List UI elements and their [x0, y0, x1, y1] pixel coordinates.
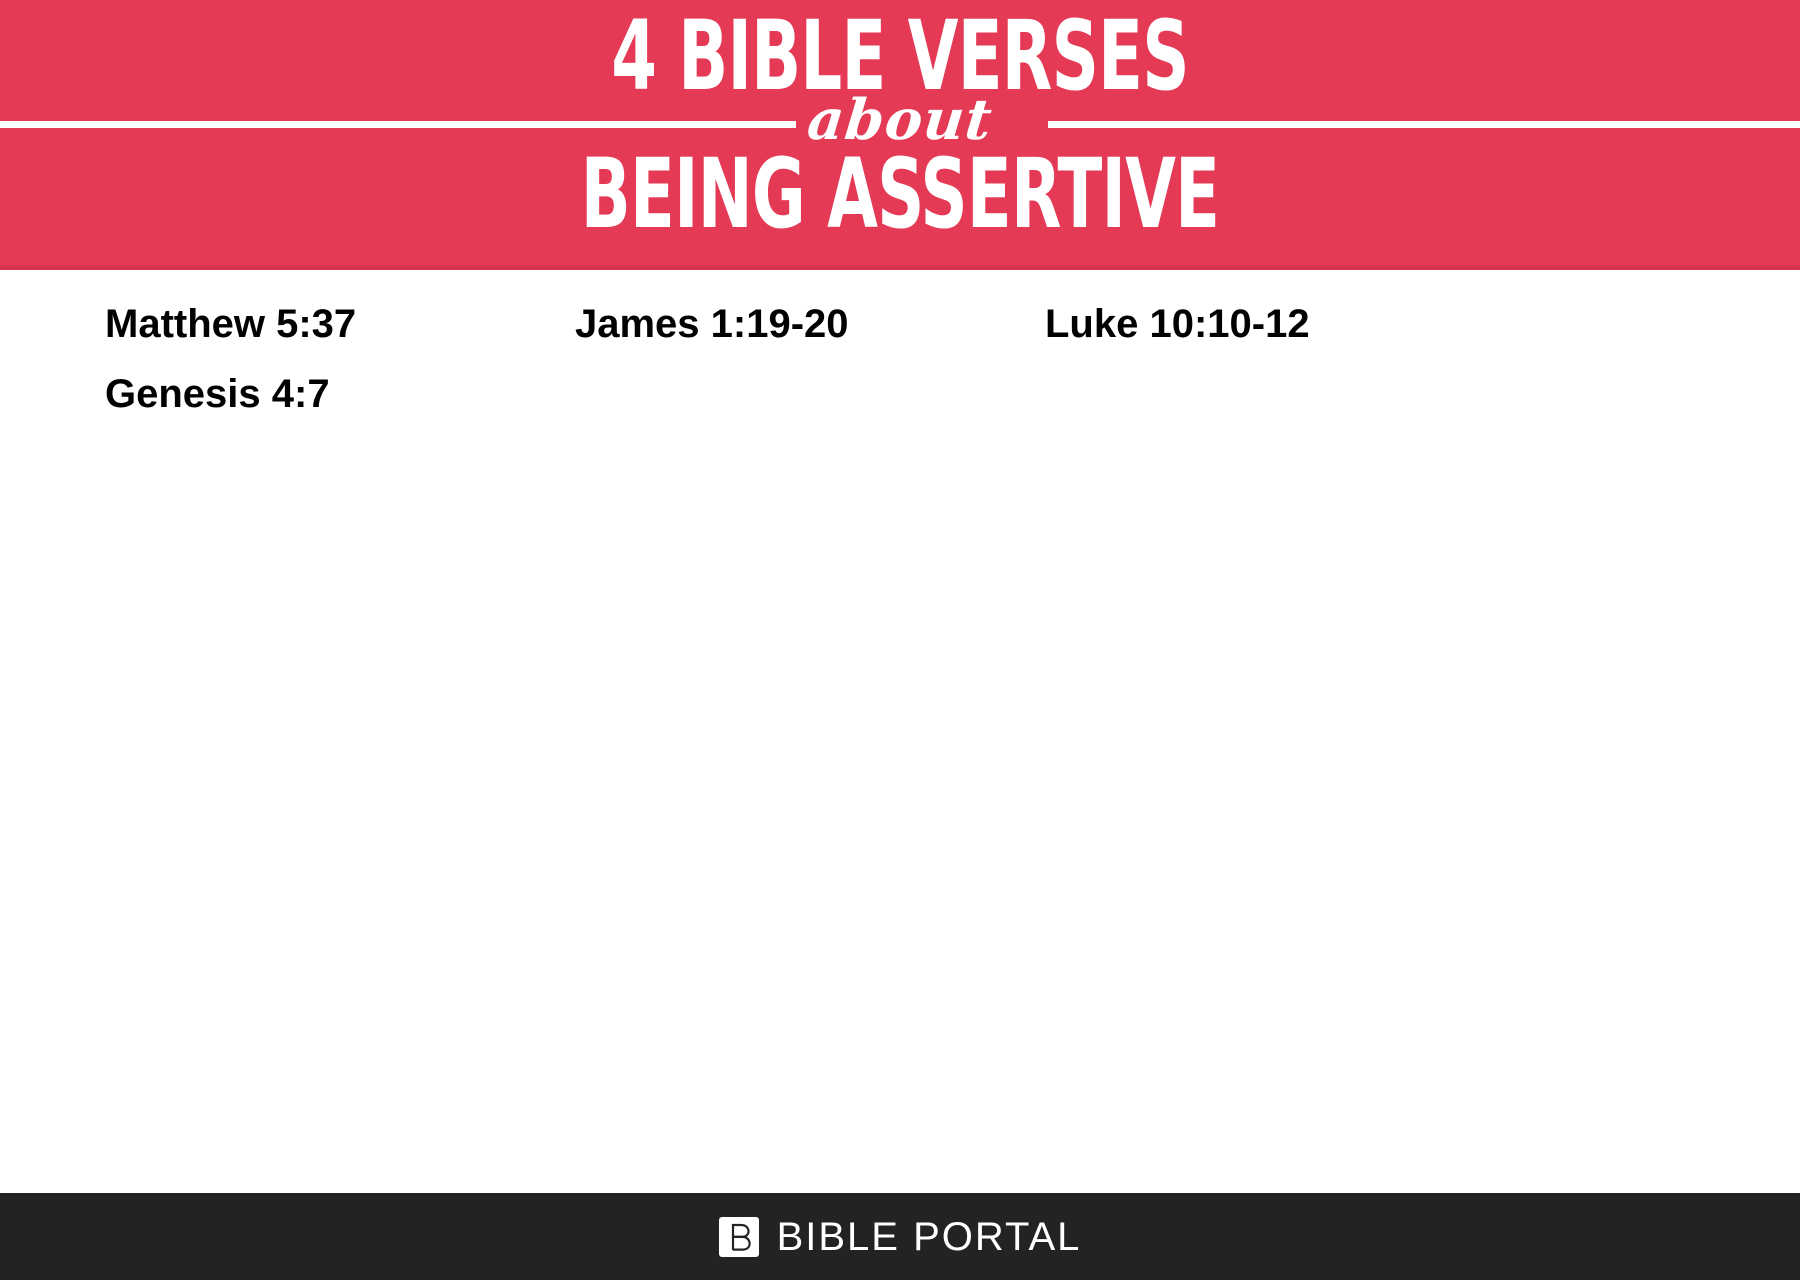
- bible-book-badge-icon: [719, 1217, 759, 1257]
- brand-logo[interactable]: Bible Portal: [0, 1193, 1800, 1280]
- footer-bar: Bible Portal: [0, 1193, 1800, 1280]
- verse-list-graphic: 4 Bible Verses about Being Assertive Mat…: [0, 0, 1800, 1280]
- verse-list-body: Matthew 5:37 James 1:19-20 Luke 10:10-12…: [0, 270, 1800, 1193]
- verse-reference-item[interactable]: James 1:19-20: [575, 298, 1045, 350]
- verse-reference-item[interactable]: Matthew 5:37: [105, 298, 575, 350]
- brand-wordmark: Bible Portal: [777, 1217, 1082, 1257]
- header-banner: 4 Bible Verses about Being Assertive: [0, 0, 1800, 270]
- verse-reference-item[interactable]: Genesis 4:7: [105, 368, 575, 420]
- verse-reference-item[interactable]: Luke 10:10-12: [1045, 298, 1515, 350]
- verse-reference-grid: Matthew 5:37 James 1:19-20 Luke 10:10-12…: [105, 298, 1665, 420]
- header-title-subject: Being Assertive: [216, 146, 1584, 242]
